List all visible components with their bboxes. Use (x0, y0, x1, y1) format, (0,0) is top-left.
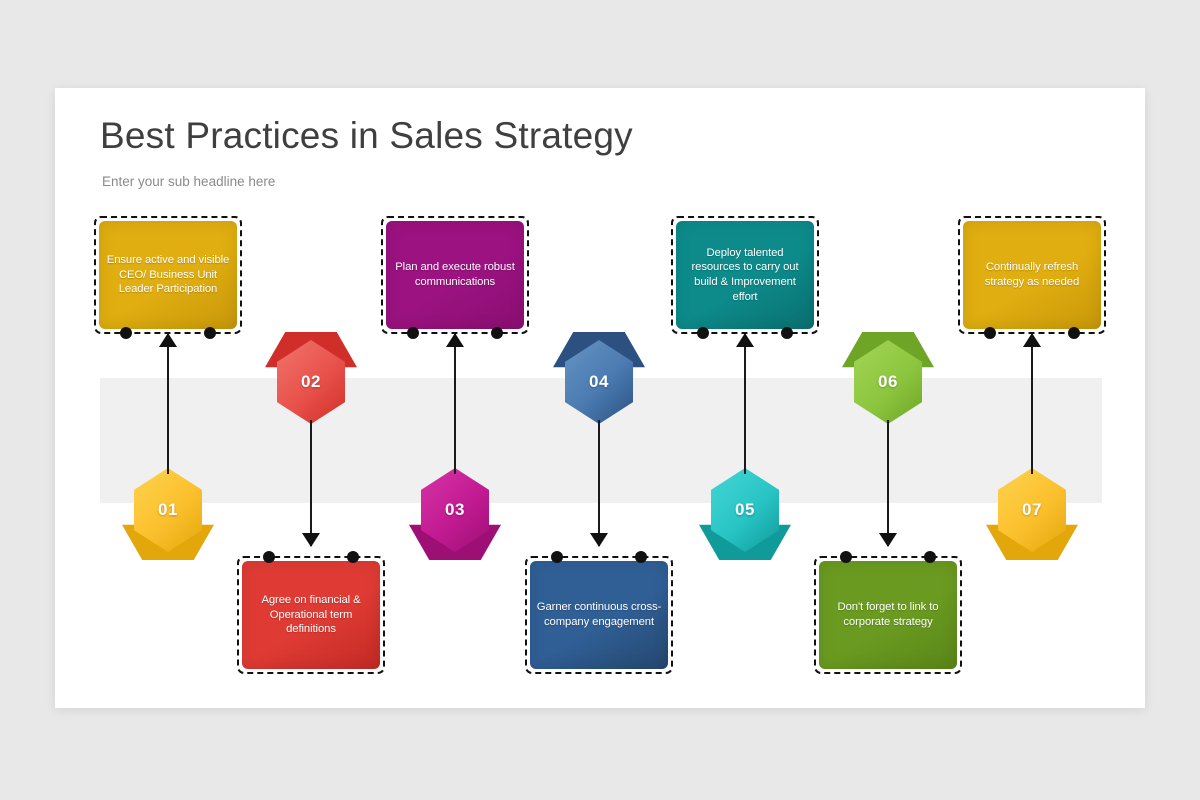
step-card-text-06: Don't forget to link to corporate strate… (825, 600, 951, 629)
marker-number-07: 07 (1022, 500, 1042, 520)
connector-arrow-05 (736, 333, 754, 347)
step-marker-07[interactable]: 07 (986, 464, 1078, 556)
step-marker-06[interactable]: 06 (842, 336, 934, 428)
connector-arrow-01 (159, 333, 177, 347)
slide: Best Practices in Sales Strategy Enter y… (55, 88, 1145, 708)
connector-line-02 (310, 420, 312, 546)
connector-dot-l-02 (263, 551, 275, 563)
step-card-05[interactable]: Deploy talented resources to carry out b… (671, 216, 819, 334)
step-marker-03[interactable]: 03 (409, 464, 501, 556)
connector-dot-r-02 (347, 551, 359, 563)
step-card-fill-04: Garner continuous cross- company engagem… (530, 561, 668, 669)
slide-canvas: Best Practices in Sales Strategy Enter y… (0, 0, 1200, 800)
step-card-text-02: Agree on financial & Operational term de… (248, 593, 374, 637)
step-card-06[interactable]: Don't forget to link to corporate strate… (814, 556, 962, 674)
step-card-fill-06: Don't forget to link to corporate strate… (819, 561, 957, 669)
step-card-07[interactable]: Continually refresh strategy as needed (958, 216, 1106, 334)
step-card-02[interactable]: Agree on financial & Operational term de… (237, 556, 385, 674)
step-card-04[interactable]: Garner continuous cross- company engagem… (525, 556, 673, 674)
step-card-text-01: Ensure active and visible CEO/ Business … (105, 253, 231, 297)
step-card-fill-01: Ensure active and visible CEO/ Business … (99, 221, 237, 329)
connector-dot-l-06 (840, 551, 852, 563)
step-marker-04[interactable]: 04 (553, 336, 645, 428)
step-card-text-05: Deploy talented resources to carry out b… (682, 246, 808, 304)
step-card-fill-03: Plan and execute robust communications (386, 221, 524, 329)
marker-number-01: 01 (158, 500, 178, 520)
marker-number-05: 05 (735, 500, 755, 520)
connector-dot-r-06 (924, 551, 936, 563)
step-marker-05[interactable]: 05 (699, 464, 791, 556)
connector-line-03 (454, 334, 456, 474)
step-marker-02[interactable]: 02 (265, 336, 357, 428)
connector-arrow-07 (1023, 333, 1041, 347)
connector-dot-l-03 (407, 327, 419, 339)
connector-line-01 (167, 334, 169, 474)
connector-line-04 (598, 420, 600, 546)
connector-dot-l-05 (697, 327, 709, 339)
connector-dot-r-01 (204, 327, 216, 339)
marker-number-02: 02 (301, 372, 321, 392)
step-card-01[interactable]: Ensure active and visible CEO/ Business … (94, 216, 242, 334)
step-card-fill-02: Agree on financial & Operational term de… (242, 561, 380, 669)
marker-number-06: 06 (878, 372, 898, 392)
connector-dot-r-07 (1068, 327, 1080, 339)
step-card-text-07: Continually refresh strategy as needed (969, 260, 1095, 289)
connector-dot-l-01 (120, 327, 132, 339)
marker-number-04: 04 (589, 372, 609, 392)
connector-dot-r-03 (491, 327, 503, 339)
connector-arrow-02 (302, 533, 320, 547)
connector-dot-r-05 (781, 327, 793, 339)
connector-arrow-04 (590, 533, 608, 547)
connector-line-06 (887, 420, 889, 546)
connector-arrow-03 (446, 333, 464, 347)
connector-arrow-06 (879, 533, 897, 547)
connector-dot-l-04 (551, 551, 563, 563)
step-card-text-04: Garner continuous cross- company engagem… (536, 600, 662, 629)
connector-line-05 (744, 334, 746, 474)
step-card-fill-07: Continually refresh strategy as needed (963, 221, 1101, 329)
step-card-03[interactable]: Plan and execute robust communications (381, 216, 529, 334)
connector-line-07 (1031, 334, 1033, 474)
connector-dot-r-04 (635, 551, 647, 563)
connector-dot-l-07 (984, 327, 996, 339)
page-title: Best Practices in Sales Strategy (100, 115, 633, 157)
step-marker-01[interactable]: 01 (122, 464, 214, 556)
page-subtitle: Enter your sub headline here (102, 174, 275, 189)
step-card-fill-05: Deploy talented resources to carry out b… (676, 221, 814, 329)
marker-number-03: 03 (445, 500, 465, 520)
step-card-text-03: Plan and execute robust communications (392, 260, 518, 289)
